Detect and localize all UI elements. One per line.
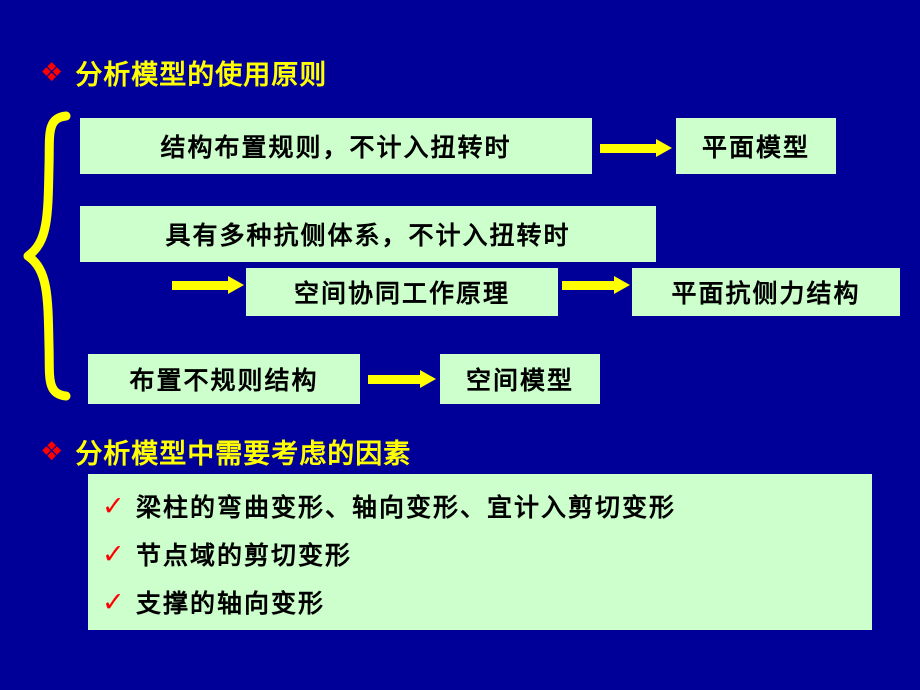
factors-panel: ✓ 梁柱的弯曲变形、轴向变形、宜计入剪切变形 ✓ 节点域的剪切变形 ✓ 支撑的轴… bbox=[88, 474, 872, 630]
factor-item-label: 支撑的轴向变形 bbox=[136, 584, 325, 620]
diamond-bullet-icon-2: ❖ bbox=[40, 439, 63, 465]
factor-item-label: 节点域的剪切变形 bbox=[136, 536, 352, 572]
arrow-row2-left bbox=[172, 276, 244, 294]
factor-list-item: ✓ 节点域的剪切变形 bbox=[102, 530, 872, 578]
section-1-heading: ❖ 分析模型的使用原则 bbox=[40, 53, 327, 92]
section-2-heading: ❖ 分析模型中需要考虑的因素 bbox=[40, 432, 411, 471]
check-icon: ✓ bbox=[102, 589, 136, 616]
flow-box-planar-model: 平面模型 bbox=[676, 118, 836, 174]
factor-list-item: ✓ 梁柱的弯曲变形、轴向变形、宜计入剪切变形 bbox=[102, 482, 872, 530]
check-icon: ✓ bbox=[102, 541, 136, 568]
flow-box-spatial-cooperation: 空间协同工作原理 bbox=[246, 268, 558, 316]
left-curly-brace-icon bbox=[22, 110, 74, 402]
flow-box-structure-regular: 结构布置规则，不计入扭转时 bbox=[80, 118, 592, 174]
check-icon: ✓ bbox=[102, 493, 136, 520]
arrow-row2-right bbox=[562, 276, 630, 294]
arrow-row1 bbox=[600, 139, 672, 157]
slide-canvas: ❖ 分析模型的使用原则 结构布置规则，不计入扭转时 平面模型 具有多种抗侧体系，… bbox=[0, 0, 920, 690]
flow-box-multi-lateral-system: 具有多种抗侧体系，不计入扭转时 bbox=[80, 206, 656, 262]
factor-item-label: 梁柱的弯曲变形、轴向变形、宜计入剪切变形 bbox=[136, 488, 676, 524]
arrow-row3 bbox=[368, 370, 436, 388]
flow-box-irregular-layout: 布置不规则结构 bbox=[88, 354, 360, 404]
curly-brace-shape bbox=[22, 110, 74, 402]
diamond-bullet-icon: ❖ bbox=[40, 60, 63, 86]
factor-list-item: ✓ 支撑的轴向变形 bbox=[102, 578, 872, 626]
section-1-heading-text: 分析模型的使用原则 bbox=[75, 53, 327, 92]
flow-box-planar-lateral-structure: 平面抗侧力结构 bbox=[632, 268, 900, 316]
section-2-heading-text: 分析模型中需要考虑的因素 bbox=[75, 432, 411, 471]
flow-box-spatial-model: 空间模型 bbox=[440, 354, 600, 404]
